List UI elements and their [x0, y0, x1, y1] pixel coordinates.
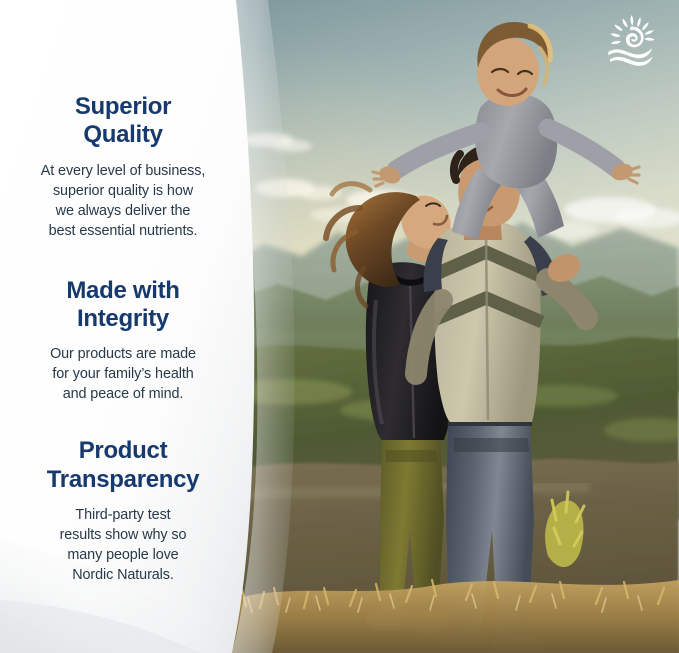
sun-wave-logo-icon: [604, 14, 660, 66]
value-block-superior-quality: Superior Quality At every level of busin…: [14, 93, 232, 241]
values-text-column: Superior Quality At every level of busin…: [0, 0, 246, 653]
value-block-made-with-integrity: Made with Integrity Our products are mad…: [14, 277, 232, 405]
body-superior-quality: At every level of business, superior qua…: [14, 161, 232, 241]
child-torso: [475, 93, 557, 188]
brand-logo: [604, 14, 660, 66]
brand-values-banner: Superior Quality At every level of busin…: [0, 0, 679, 653]
heading-superior-quality: Superior Quality: [14, 93, 232, 150]
body-product-transparency: Third-party test results show why so man…: [14, 505, 232, 585]
heading-product-transparency: Product Transparency: [14, 437, 232, 494]
body-made-with-integrity: Our products are made for your family’s …: [14, 344, 232, 404]
value-block-product-transparency: Product Transparency Third-party test re…: [14, 437, 232, 585]
heading-made-with-integrity: Made with Integrity: [14, 277, 232, 334]
